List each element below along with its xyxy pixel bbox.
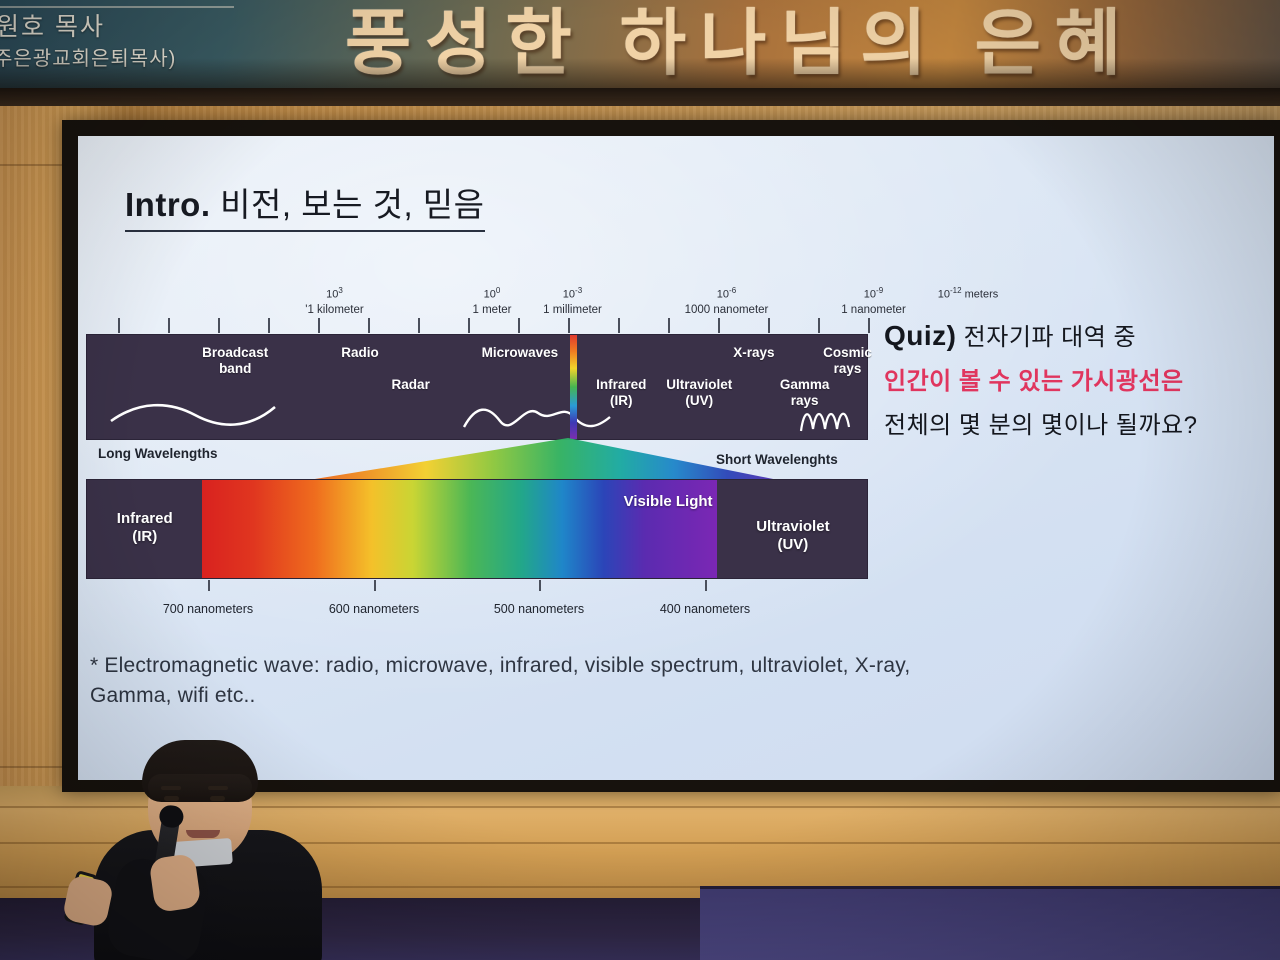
band-label-radio: Radio <box>341 345 379 361</box>
quiz-line-3: 전체의 몇 분의 몇이나 될까요? <box>884 407 1264 444</box>
medium-wave-glyph <box>462 397 612 435</box>
scale-caption: 1 meter <box>473 304 512 316</box>
quiz-line-1-text: 전자기파 대역 중 <box>957 324 1137 351</box>
presenter-figure <box>60 726 360 960</box>
quiz-line-2: 인간이 볼 수 있는 가시광선은 <box>884 363 1264 400</box>
banner-speaker-name: 원호 목사 <box>0 12 324 43</box>
banner-rule <box>0 6 234 8</box>
visible-bar-ir-label: Infrared(IR) <box>117 510 173 546</box>
em-band-strip: Broadcastband Radio Microwaves Radar Inf… <box>86 334 868 440</box>
nanometer-tick-row <box>78 580 1274 592</box>
visible-light-label: Visible Light <box>624 493 713 511</box>
wall-top-trim <box>0 88 1280 106</box>
nm-label-500: 500 nanometers <box>494 602 584 616</box>
band-label-broadcast: Broadcastband <box>202 345 268 377</box>
banner-speaker-church: 주은광교회은퇴목사) <box>0 47 324 72</box>
band-label-ultraviolet: Ultraviolet(UV) <box>666 377 732 409</box>
banner-speaker-credit: 원호 목사 주은광교회은퇴목사) <box>0 6 324 72</box>
scale-exponent: 100 <box>473 286 512 301</box>
presenter-mouth <box>186 830 220 838</box>
scale-exponent: 10-6 <box>685 286 769 301</box>
visible-light-bar: Infrared(IR) Visible Light Ultraviolet(U… <box>86 479 868 579</box>
band-label-microwaves: Microwaves <box>482 345 559 361</box>
presenter-eyebrow-right <box>208 786 228 790</box>
nm-label-400: 400 nanometers <box>660 602 750 616</box>
band-label-radar: Radar <box>392 377 430 393</box>
visible-light-divider <box>570 335 577 439</box>
scale-exponent: 10-9 <box>841 286 906 301</box>
presenter-hair <box>142 740 258 802</box>
presenter-eye-right <box>210 796 225 801</box>
band-label-xrays: X-rays <box>733 345 774 361</box>
banner-headline: 풍성한 하나님의 은혜 <box>345 0 1135 88</box>
visible-bar-uv-label: Ultraviolet(UV) <box>756 518 829 554</box>
scale-caption: 1000 nanometer <box>685 304 769 316</box>
presenter-hand-holding-mic <box>148 853 201 913</box>
nm-label-700: 700 nanometers <box>163 602 253 616</box>
stage-back-panel <box>700 886 1280 960</box>
presentation-slide: Intro. 비전, 보는 것, 믿음 103'1 kilometer 1001… <box>78 136 1274 780</box>
band-label-cosmic: Cosmicrays <box>823 345 872 377</box>
presenter-eyebrow-left <box>161 786 181 790</box>
slide-footnote: * Electromagnetic wave: radio, microwave… <box>90 651 990 712</box>
quiz-line-1: Quiz) 전자기파 대역 중 <box>884 314 1264 357</box>
scale-exponent: 10-12 meters <box>938 286 999 301</box>
short-wave-glyph <box>799 401 855 435</box>
scale-exponent: 10-3 <box>543 286 602 301</box>
scale-caption: '1 kilometer <box>305 304 363 316</box>
presenter-eye-left <box>164 796 179 801</box>
scale-exponent: 103 <box>305 286 363 301</box>
stage-banner: 원호 목사 주은광교회은퇴목사) 풍성한 하나님의 은혜 <box>0 0 1280 88</box>
quiz-label: Quiz) <box>884 320 957 351</box>
nm-label-600: 600 nanometers <box>329 602 419 616</box>
quiz-block: Quiz) 전자기파 대역 중 인간이 볼 수 있는 가시광선은 전체의 몇 분… <box>884 314 1264 444</box>
scale-caption: 1 millimeter <box>543 304 602 316</box>
long-wave-glyph <box>109 395 279 435</box>
lecture-room-photo: 원호 목사 주은광교회은퇴목사) 풍성한 하나님의 은혜 Intro. 비전, … <box>0 0 1280 960</box>
